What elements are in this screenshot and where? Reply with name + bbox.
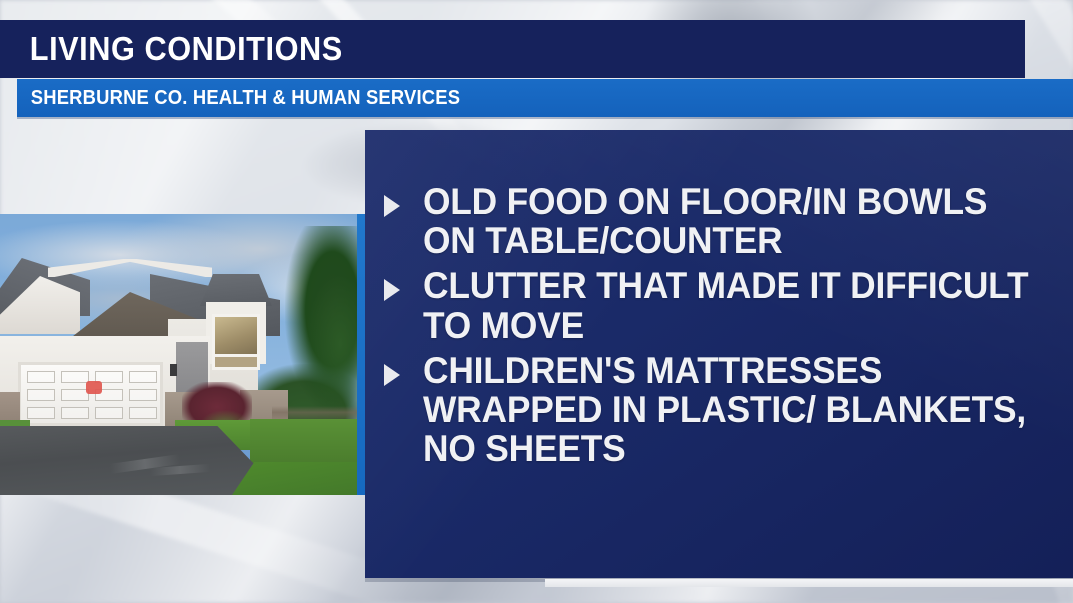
garage-panel bbox=[27, 371, 55, 383]
garage-panel bbox=[95, 407, 123, 419]
garage-panel bbox=[129, 371, 157, 383]
garage-panel bbox=[129, 407, 157, 419]
title-bar: LIVING CONDITIONS bbox=[0, 20, 1025, 78]
list-item: CLUTTER THAT MADE IT DIFFICULT TO MOVE bbox=[384, 266, 1059, 344]
triangle-right-icon bbox=[384, 279, 400, 301]
page-subtitle: SHERBURNE CO. HEALTH & HUMAN SERVICES bbox=[17, 87, 460, 110]
garage-panel bbox=[27, 389, 55, 401]
garage-panel bbox=[27, 407, 55, 419]
bay-window-lower bbox=[212, 354, 260, 370]
garage-panel bbox=[61, 389, 89, 401]
subtitle-bar: SHERBURNE CO. HEALTH & HUMAN SERVICES bbox=[17, 79, 1073, 117]
list-item-label: CLUTTER THAT MADE IT DIFFICULT TO MOVE bbox=[423, 266, 1030, 344]
house-photo bbox=[0, 214, 360, 495]
blue-accent-strip bbox=[357, 214, 365, 495]
porch-lamp bbox=[170, 364, 177, 376]
triangle-right-icon bbox=[384, 195, 400, 217]
list-item-label: CHILDREN'S MATTRESSES WRAPPED IN PLASTIC… bbox=[423, 351, 1030, 469]
garage-door-sticker bbox=[86, 381, 102, 394]
garage-door bbox=[18, 362, 163, 426]
garage-panel bbox=[129, 389, 157, 401]
bottom-light-strip bbox=[545, 579, 1073, 587]
list-item-label: OLD FOOD ON FLOOR/IN BOWLS ON TABLE/COUN… bbox=[423, 182, 1030, 260]
garage-panel bbox=[61, 407, 89, 419]
bullet-list: OLD FOOD ON FLOOR/IN BOWLS ON TABLE/COUN… bbox=[384, 182, 1059, 469]
tree bbox=[305, 274, 360, 414]
garage-panel bbox=[61, 371, 89, 383]
bullet-panel: OLD FOOD ON FLOOR/IN BOWLS ON TABLE/COUN… bbox=[365, 130, 1073, 578]
triangle-right-icon bbox=[384, 364, 400, 386]
list-item: CHILDREN'S MATTRESSES WRAPPED IN PLASTIC… bbox=[384, 351, 1059, 469]
page-title: LIVING CONDITIONS bbox=[0, 30, 343, 68]
list-item: OLD FOOD ON FLOOR/IN BOWLS ON TABLE/COUN… bbox=[384, 182, 1059, 260]
